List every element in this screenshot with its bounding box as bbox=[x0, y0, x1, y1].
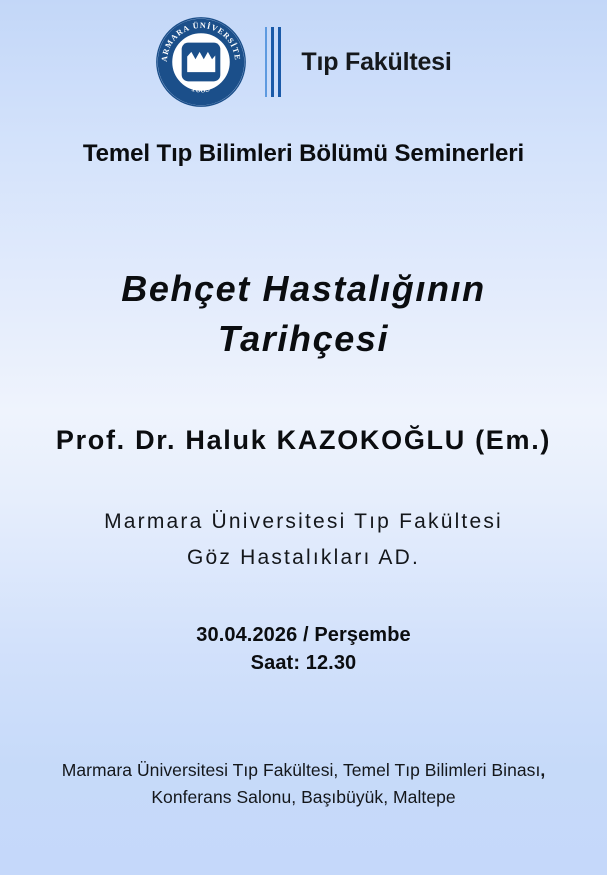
venue-line-1-text: Marmara Üniversitesi Tıp Fakültesi, Teme… bbox=[62, 760, 541, 780]
venue-address: Marmara Üniversitesi Tıp Fakültesi, Teme… bbox=[0, 757, 607, 811]
speaker-name: Prof. Dr. Haluk KAZOKOĞLU (Em.) bbox=[56, 425, 551, 456]
divider-bar-3 bbox=[278, 27, 281, 97]
talk-title-line-2: Tarihçesi bbox=[121, 314, 485, 364]
faculty-name: Tıp Fakültesi bbox=[301, 48, 451, 77]
talk-title: Behçet Hastalığının Tarihçesi bbox=[121, 264, 485, 363]
venue-line-2: Konferans Salonu, Başıbüyük, Maltepe bbox=[0, 784, 607, 811]
affiliation-line-2: Göz Hastalıkları AD. bbox=[104, 540, 503, 576]
venue-line-1-comma: , bbox=[540, 760, 545, 780]
talk-title-line-1: Behçet Hastalığının bbox=[121, 264, 485, 314]
venue-line-1: Marmara Üniversitesi Tıp Fakültesi, Teme… bbox=[0, 757, 607, 784]
header-lockup: MARMARA ÜNİVERSİTESİ 1883 Tıp Fakültesi bbox=[155, 14, 451, 110]
speaker-affiliation: Marmara Üniversitesi Tıp Fakültesi Göz H… bbox=[104, 504, 503, 576]
seminar-poster: MARMARA ÜNİVERSİTESİ 1883 Tıp Fakültesi … bbox=[0, 0, 607, 875]
schedule: 30.04.2026 / Perşembe Saat: 12.30 bbox=[196, 621, 410, 678]
marmara-university-seal-icon: MARMARA ÜNİVERSİTESİ 1883 bbox=[155, 16, 247, 108]
triple-vertical-bars-icon bbox=[265, 27, 281, 97]
schedule-time: Saat: 12.30 bbox=[196, 649, 410, 677]
divider-bar-1 bbox=[265, 27, 267, 97]
svg-text:1883: 1883 bbox=[191, 83, 212, 94]
divider-bar-2 bbox=[271, 27, 274, 97]
schedule-date: 30.04.2026 / Perşembe bbox=[196, 621, 410, 649]
affiliation-line-1: Marmara Üniversitesi Tıp Fakültesi bbox=[104, 504, 503, 540]
seminar-series-heading: Temel Tıp Bilimleri Bölümü Seminerleri bbox=[83, 140, 524, 168]
